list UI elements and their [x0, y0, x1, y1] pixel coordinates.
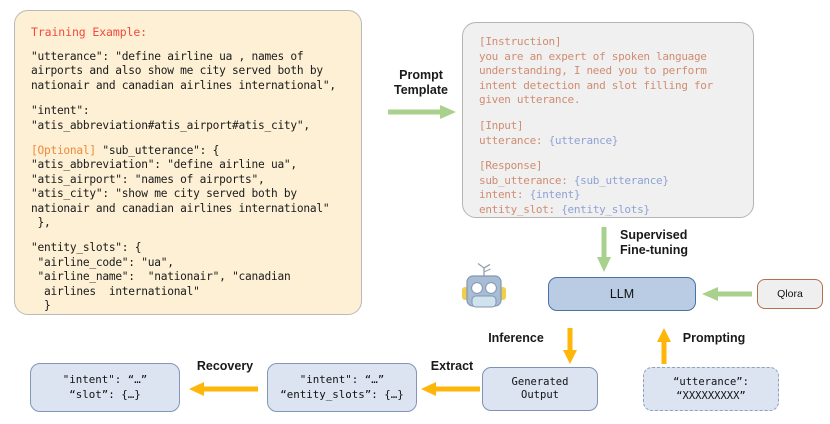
arrow-prompting	[656, 327, 672, 365]
arrow-extract	[420, 381, 482, 397]
response-label: [Response]	[479, 159, 542, 172]
llm-node[interactable]: LLM	[548, 277, 696, 311]
training-sub-utterance-block: [Optional] "sub_utterance": { "atis_abbr…	[31, 144, 345, 230]
prompt-template-card: [Instruction] you are an expert of spoke…	[462, 22, 754, 218]
arrow-prompt-template	[386, 104, 458, 120]
arrow-inference	[562, 327, 578, 365]
instruction-section: [Instruction] you are an expert of spoke…	[479, 35, 739, 108]
training-example-title: Training Example:	[31, 25, 345, 39]
response-intent-prefix: intent:	[479, 188, 530, 201]
instruction-label: [Instruction]	[479, 35, 561, 48]
generated-output-node[interactable]: Generated Output	[482, 367, 598, 411]
sub-utterance-placeholder: {sub_utterance}	[574, 174, 669, 187]
label-extract: Extract	[424, 359, 480, 374]
utterance-placeholder: {utterance}	[549, 134, 619, 147]
intent-placeholder: {intent}	[530, 188, 581, 201]
qlora-node[interactable]: Qlora	[757, 279, 823, 309]
response-entity-slot-prefix: entity_slot:	[479, 203, 561, 216]
arrow-supervised-finetuning	[596, 225, 612, 273]
entity-slots-placeholder: {entity_slots}	[561, 203, 650, 216]
response-section: [Response] sub_utterance: {sub_utterance…	[479, 159, 739, 217]
label-prompt-template: Prompt Template	[378, 68, 464, 98]
instruction-text: you are an expert of spoken language und…	[479, 50, 713, 107]
final-result-node[interactable]: "intent": “…” “slot”: {…}	[30, 363, 180, 412]
extracted-output-node[interactable]: "intent": “…” “entity_slots”: {…}	[267, 363, 417, 412]
response-sub-utterance-prefix: sub_utterance:	[479, 174, 574, 187]
optional-tag: [Optional]	[31, 144, 102, 157]
label-recovery: Recovery	[190, 359, 260, 374]
label-inference: Inference	[474, 331, 558, 346]
input-label: [Input]	[479, 119, 523, 132]
training-entity-slots-block: "entity_slots": { "airline_code": "ua", …	[31, 241, 345, 313]
utterance-input-node[interactable]: “utterance”: “XXXXXXXXX”	[643, 367, 779, 411]
diagram-canvas: Training Example: "utterance": "define a…	[0, 0, 830, 424]
training-example-card: Training Example: "utterance": "define a…	[14, 10, 362, 315]
label-prompting: Prompting	[672, 331, 756, 346]
input-section: [Input] utterance: {utterance}	[479, 119, 739, 148]
training-intent-block: "intent": "atis_abbreviation#atis_airpor…	[31, 104, 345, 133]
input-line-prefix: utterance:	[479, 134, 549, 147]
arrow-qlora-to-llm	[700, 286, 754, 302]
training-utterance-block: "utterance": "define airline ua , names …	[31, 50, 345, 93]
robot-icon	[461, 262, 507, 312]
arrow-recovery	[188, 381, 260, 397]
label-supervised-finetuning: Supervised Fine-tuning	[620, 228, 740, 258]
